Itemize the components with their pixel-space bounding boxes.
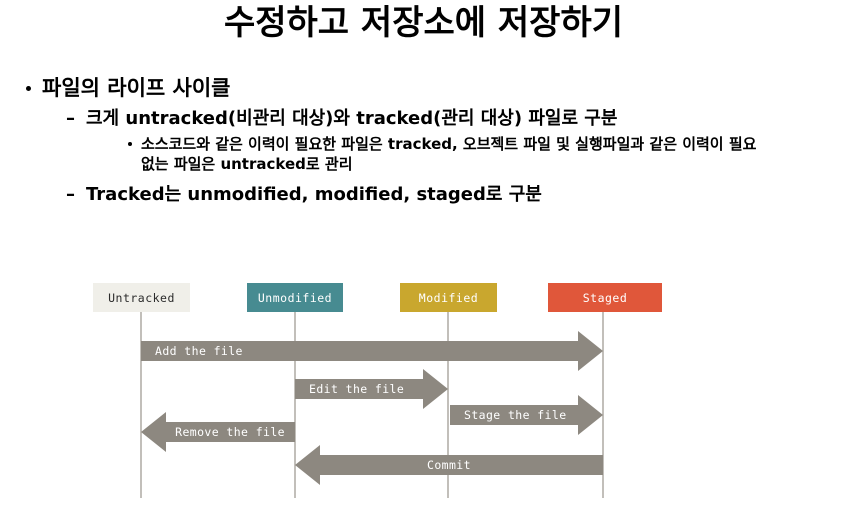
bullet-level1: 파일의 라이프 사이클 <box>24 74 847 102</box>
bullet-level2-text-2: Tracked는 unmodified, modified, staged로 구… <box>86 184 542 205</box>
bullet-level3-detail: 소스코드와 같은 이력이 필요한 파일은 tracked, 오브젝트 파일 및 … <box>126 134 761 174</box>
column-header-untracked: Untracked <box>93 283 190 312</box>
svg-text:Stage the file: Stage the file <box>464 408 567 422</box>
page-title: 수정하고 저장소에 저장하기 <box>0 2 847 44</box>
bullet-level3-text: 소스코드와 같은 이력이 필요한 파일은 tracked, 오브젝트 파일 및 … <box>141 135 756 173</box>
bullet-level2-text: 크게 untracked(비관리 대상)와 tracked(관리 대상) 파일로… <box>86 108 617 129</box>
transition-edit-the-file: Edit the file <box>295 369 448 409</box>
bullet-dot-icon <box>26 86 31 91</box>
svg-text:Modified: Modified <box>419 291 478 305</box>
transition-add-the-file: Add the file <box>141 331 603 371</box>
transition-commit: Commit <box>295 445 603 485</box>
bullet-level1-text: 파일의 라이프 사이클 <box>42 76 231 100</box>
bullet-dash-icon-2: – <box>66 183 75 206</box>
transition-stage-the-file: Stage the file <box>450 395 603 435</box>
file-lifecycle-diagram: Untracked Unmodified Modified Staged Add… <box>0 283 847 517</box>
bullet-subdot-icon <box>128 142 132 146</box>
svg-text:Untracked: Untracked <box>108 291 175 305</box>
column-header-unmodified: Unmodified <box>247 283 343 312</box>
bullet-list: 파일의 라이프 사이클 – 크게 untracked(비관리 대상)와 trac… <box>0 74 847 206</box>
svg-text:Remove the file: Remove the file <box>175 425 285 439</box>
svg-text:Unmodified: Unmodified <box>258 291 332 305</box>
bullet-level2-lifecycle: – 크게 untracked(비관리 대상)와 tracked(관리 대상) 파… <box>66 107 746 130</box>
bullet-dash-icon: – <box>66 107 75 130</box>
svg-text:Staged: Staged <box>583 291 628 305</box>
svg-text:Edit the file: Edit the file <box>309 382 404 396</box>
bullet-level2-tracked-states: – Tracked는 unmodified, modified, staged로… <box>66 183 746 206</box>
svg-text:Commit: Commit <box>427 458 471 472</box>
column-header-modified: Modified <box>400 283 497 312</box>
column-header-staged: Staged <box>548 283 662 312</box>
transition-remove-the-file: Remove the file <box>141 412 295 452</box>
svg-text:Add the file: Add the file <box>155 344 243 358</box>
